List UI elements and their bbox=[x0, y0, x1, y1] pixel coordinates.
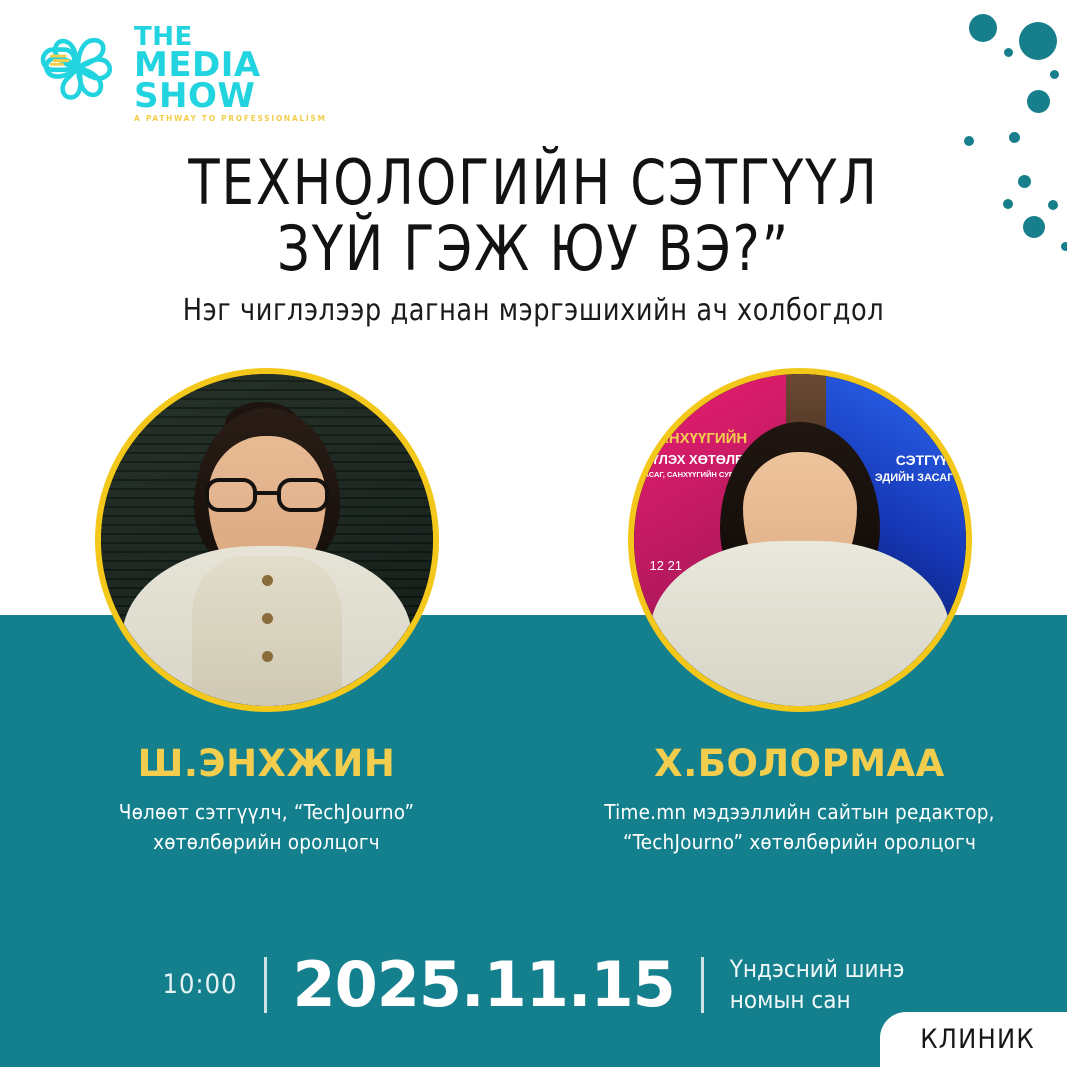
title-line-1: ТЕХНОЛОГИЙН СЭТГҮҮЛ bbox=[43, 150, 1025, 216]
logo-line-show: SHOW bbox=[134, 81, 327, 112]
subtitle: Нэг чиглэлээр дагнан мэргэшихийн ач холб… bbox=[27, 293, 1041, 328]
speaker-role-2-line2: “TechJourno” хөтөлбөрийн оролцогч bbox=[604, 828, 994, 858]
footer-divider-1 bbox=[264, 957, 267, 1013]
decorative-dot-7 bbox=[1009, 132, 1020, 143]
poster-canvas: THE MEDIA SHOW A PATHWAY TO PROFESSIONAL… bbox=[0, 0, 1067, 1067]
decorative-dot-1 bbox=[969, 14, 997, 42]
decorative-dot-2 bbox=[1019, 22, 1057, 60]
decorative-dot-5 bbox=[1027, 90, 1050, 113]
event-time: 10:00 bbox=[163, 969, 238, 1000]
speaker-name-1: Ш.ЭНХЖИН bbox=[138, 742, 396, 785]
speaker-name-2: Х.БОЛОРМАА bbox=[654, 742, 945, 785]
event-date: 2025.11.15 bbox=[293, 948, 675, 1021]
pinwheel-flower-icon bbox=[32, 22, 124, 114]
title-line-2: ЗҮЙ ГЭЖ ЮУ ВЭ?” bbox=[43, 216, 1025, 282]
event-venue-line2: номын сан bbox=[730, 985, 905, 1016]
backdrop-text-4: СЭТГҮҮЛ bbox=[896, 452, 958, 468]
backdrop-text-6: 12 21 bbox=[650, 558, 683, 573]
speaker-card-1: Ш.ЭНХЖИН Чөлөөт сэтгүүлч, “TechJourno” х… bbox=[0, 368, 533, 858]
brand-logo: THE MEDIA SHOW A PATHWAY TO PROFESSIONAL… bbox=[32, 22, 327, 123]
event-venue-line1: Үндэсний шинэ bbox=[730, 954, 905, 985]
logo-tagline: A PATHWAY TO PROFESSIONALISM bbox=[134, 114, 327, 123]
backdrop-text-1: САНХҮҮГИЙН bbox=[648, 430, 748, 447]
speakers-row: Ш.ЭНХЖИН Чөлөөт сэтгүүлч, “TechJourno” х… bbox=[0, 368, 1067, 858]
speaker-role-1-line1: Чөлөөт сэтгүүлч, “TechJourno” bbox=[119, 798, 415, 828]
decorative-dot-4 bbox=[1050, 70, 1059, 79]
speaker-role-1-line2: хөтөлбөрийн оролцогч bbox=[119, 828, 415, 858]
speaker-photo-enkhjin bbox=[95, 368, 439, 712]
speaker-role-1: Чөлөөт сэтгүүлч, “TechJourno” хөтөлбөрий… bbox=[119, 798, 415, 858]
backdrop-text-5: ЭДИЙН ЗАСАГ bbox=[875, 472, 954, 484]
clinic-tab-label: КЛИНИК bbox=[914, 1024, 1041, 1055]
event-footer: 10:00 2025.11.15 Үндэсний шинэ номын сан bbox=[0, 948, 1067, 1021]
decorative-dot-3 bbox=[1004, 48, 1013, 57]
title-block: ТЕХНОЛОГИЙН СЭТГҮҮЛ ЗҮЙ ГЭЖ ЮУ ВЭ?” Нэг … bbox=[0, 150, 1067, 328]
event-venue: Үндэсний шинэ номын сан bbox=[730, 954, 905, 1015]
speaker-role-2-line1: Time.mn мэдээллийн сайтын редактор, bbox=[604, 798, 994, 828]
speaker-photo-bolormaa: САНХҮҮГИЙН ҮЛЭХ ХӨТӨЛБӨР АСАГ, САНХҮҮГИЙ… bbox=[628, 368, 972, 712]
clinic-tab[interactable]: КЛИНИК bbox=[880, 1012, 1067, 1067]
footer-divider-2 bbox=[701, 957, 704, 1013]
speaker-role-2: Time.mn мэдээллийн сайтын редактор, “Tec… bbox=[604, 798, 994, 858]
decorative-dot-6 bbox=[964, 136, 974, 146]
speaker-card-2: САНХҮҮГИЙН ҮЛЭХ ХӨТӨЛБӨР АСАГ, САНХҮҮГИЙ… bbox=[533, 368, 1066, 858]
